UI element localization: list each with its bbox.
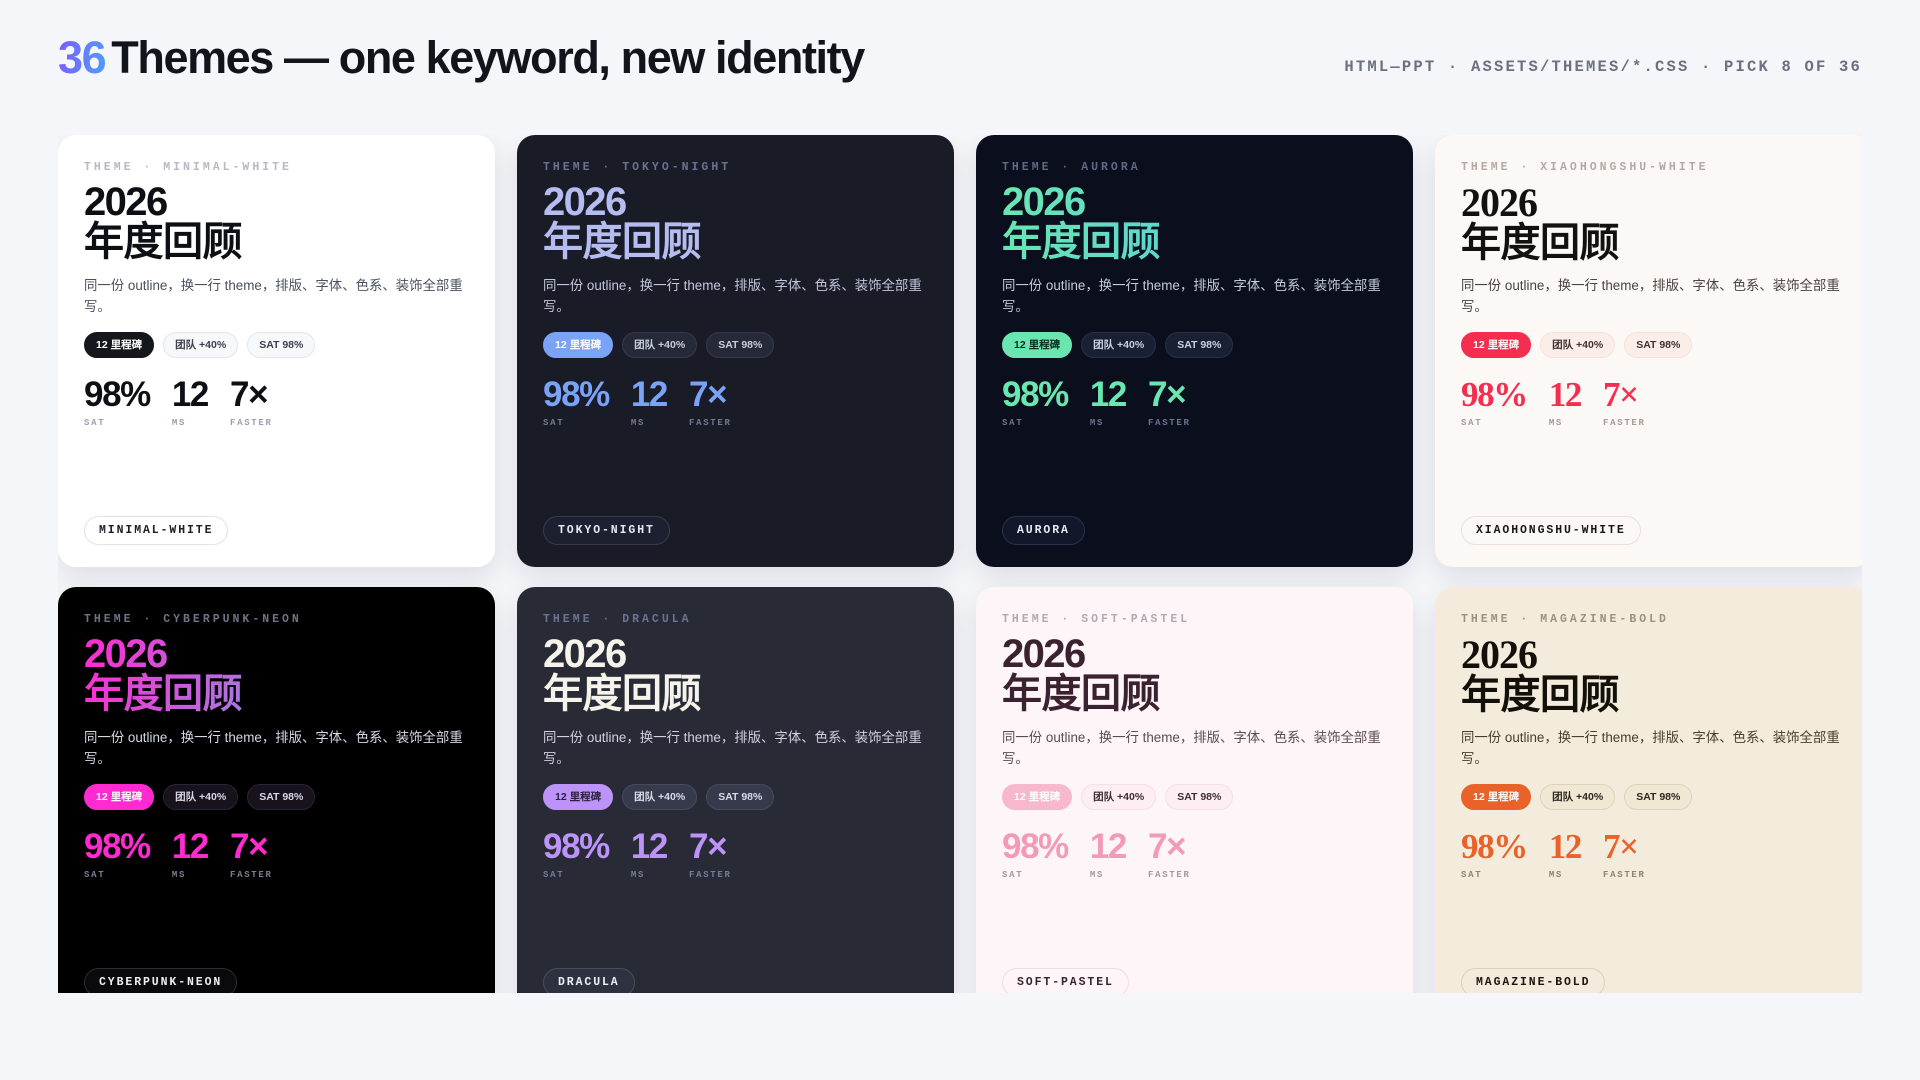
stat-item: 7×FASTER — [689, 377, 732, 428]
headline-line-1: 2026 — [1461, 180, 1537, 225]
pill-primary[interactable]: 12 里程碑 — [1002, 332, 1072, 359]
pill-secondary[interactable]: SAT 98% — [1165, 332, 1233, 359]
stat-label: FASTER — [689, 870, 732, 880]
stat-label: SAT — [1002, 870, 1068, 880]
pill-secondary[interactable]: SAT 98% — [1624, 784, 1692, 811]
pill-primary[interactable]: 12 里程碑 — [1002, 784, 1072, 811]
card-headline: 2026年度回顾 — [1002, 635, 1387, 714]
stat-label: SAT — [84, 418, 150, 428]
pill-secondary[interactable]: 团队 +40% — [1081, 332, 1156, 359]
headline-line-1: 2026 — [543, 632, 626, 676]
pill-secondary[interactable]: 团队 +40% — [1540, 332, 1615, 359]
theme-name-badge[interactable]: CYBERPUNK-NEON — [84, 968, 237, 993]
card-headline: 2026年度回顾 — [543, 635, 928, 714]
stat-label: SAT — [543, 870, 609, 880]
stat-label: SAT — [1002, 418, 1068, 428]
stat-item: 12MS — [172, 829, 208, 880]
stat-value: 7× — [1148, 829, 1191, 864]
pill-secondary[interactable]: SAT 98% — [247, 784, 315, 811]
card-headline: 2026年度回顾 — [543, 183, 928, 262]
theme-card[interactable]: THEME · CYBERPUNK-NEON2026年度回顾同一份 outlin… — [58, 587, 495, 993]
headline-line-2: 年度回顾 — [1002, 223, 1387, 263]
stat-value: 12 — [631, 377, 667, 412]
stat-value: 7× — [230, 377, 273, 412]
pill-secondary[interactable]: 团队 +40% — [1540, 784, 1615, 811]
card-headline: 2026年度回顾 — [1461, 635, 1846, 714]
card-stat-row: 98%SAT12MS7×FASTER — [84, 829, 469, 880]
card-footer: MAGAZINE-BOLD — [1461, 968, 1846, 993]
theme-card[interactable]: THEME · DRACULA2026年度回顾同一份 outline，换一行 t… — [517, 587, 954, 993]
page-title: 36Themes — one keyword, new identity — [58, 34, 864, 81]
stat-value: 7× — [1603, 377, 1646, 412]
card-pill-row: 12 里程碑团队 +40%SAT 98% — [1002, 332, 1387, 359]
stat-value: 7× — [1603, 829, 1646, 864]
card-headline: 2026年度回顾 — [1461, 183, 1846, 262]
card-stat-row: 98%SAT12MS7×FASTER — [1461, 829, 1846, 880]
stat-item: 12MS — [1090, 829, 1126, 880]
theme-card[interactable]: THEME · SOFT-PASTEL2026年度回顾同一份 outline，换… — [976, 587, 1413, 993]
stat-item: 12MS — [1549, 829, 1581, 880]
headline-line-2: 年度回顾 — [1461, 675, 1846, 715]
stat-label: FASTER — [1603, 418, 1646, 428]
card-body-text: 同一份 outline，换一行 theme，排版、字体、色系、装饰全部重写。 — [84, 276, 469, 317]
theme-name-badge[interactable]: SOFT-PASTEL — [1002, 968, 1129, 993]
pill-secondary[interactable]: SAT 98% — [706, 332, 774, 359]
card-eyebrow: THEME · MINIMAL-WHITE — [84, 161, 469, 174]
pill-secondary[interactable]: SAT 98% — [247, 332, 315, 359]
pill-secondary[interactable]: SAT 98% — [1165, 784, 1233, 811]
card-footer: SOFT-PASTEL — [1002, 968, 1387, 993]
stat-value: 12 — [172, 829, 208, 864]
headline-line-1: 2026 — [543, 180, 626, 224]
stat-label: FASTER — [1148, 870, 1191, 880]
pill-secondary[interactable]: 团队 +40% — [622, 784, 697, 811]
stat-value: 12 — [1090, 377, 1126, 412]
card-body-text: 同一份 outline，换一行 theme，排版、字体、色系、装饰全部重写。 — [543, 728, 928, 769]
card-stat-row: 98%SAT12MS7×FASTER — [1002, 829, 1387, 880]
pill-secondary[interactable]: 团队 +40% — [163, 784, 238, 811]
card-footer: XIAOHONGSHU-WHITE — [1461, 516, 1846, 567]
stat-item: 7×FASTER — [689, 829, 732, 880]
stat-value: 12 — [1549, 829, 1581, 864]
pill-secondary[interactable]: SAT 98% — [1624, 332, 1692, 359]
card-eyebrow: THEME · DRACULA — [543, 613, 928, 626]
headline-line-2: 年度回顾 — [543, 675, 928, 715]
stat-label: FASTER — [1148, 418, 1191, 428]
pill-secondary[interactable]: SAT 98% — [706, 784, 774, 811]
stat-label: MS — [172, 418, 208, 428]
stat-label: FASTER — [1603, 870, 1646, 880]
theme-name-badge[interactable]: AURORA — [1002, 516, 1085, 545]
headline-line-1: 2026 — [84, 180, 167, 224]
stat-item: 7×FASTER — [1603, 377, 1646, 428]
card-pill-row: 12 里程碑团队 +40%SAT 98% — [543, 784, 928, 811]
card-body-text: 同一份 outline，换一行 theme，排版、字体、色系、装饰全部重写。 — [1002, 728, 1387, 769]
headline-line-1: 2026 — [1461, 632, 1537, 677]
stat-label: FASTER — [230, 418, 273, 428]
stat-item: 12MS — [172, 377, 208, 428]
card-pill-row: 12 里程碑团队 +40%SAT 98% — [1461, 332, 1846, 359]
stat-label: SAT — [543, 418, 609, 428]
headline-line-1: 2026 — [84, 632, 167, 676]
pill-secondary[interactable]: 团队 +40% — [1081, 784, 1156, 811]
stat-label: SAT — [1461, 418, 1527, 428]
stat-item: 12MS — [631, 377, 667, 428]
card-headline: 2026年度回顾 — [84, 635, 469, 714]
theme-card[interactable]: THEME · XIAOHONGSHU-WHITE2026年度回顾同一份 out… — [1435, 135, 1862, 567]
stat-value: 98% — [543, 829, 609, 864]
stat-label: MS — [631, 418, 667, 428]
card-pill-row: 12 里程碑团队 +40%SAT 98% — [1461, 784, 1846, 811]
stat-item: 98%SAT — [1461, 829, 1527, 880]
stat-item: 98%SAT — [543, 377, 609, 428]
stat-item: 7×FASTER — [1603, 829, 1646, 880]
stat-value: 98% — [84, 829, 150, 864]
card-eyebrow: THEME · AURORA — [1002, 161, 1387, 174]
stat-value: 12 — [172, 377, 208, 412]
pill-primary[interactable]: 12 里程碑 — [543, 332, 613, 359]
card-pill-row: 12 里程碑团队 +40%SAT 98% — [1002, 784, 1387, 811]
stat-item: 98%SAT — [84, 829, 150, 880]
theme-card[interactable]: THEME · AURORA2026年度回顾同一份 outline，换一行 th… — [976, 135, 1413, 567]
headline-line-2: 年度回顾 — [84, 223, 469, 263]
stat-value: 98% — [1461, 829, 1527, 864]
stat-label: FASTER — [689, 418, 732, 428]
headline-line-2: 年度回顾 — [84, 675, 469, 715]
stat-label: MS — [172, 870, 208, 880]
stat-value: 98% — [84, 377, 150, 412]
card-stat-row: 98%SAT12MS7×FASTER — [1002, 377, 1387, 428]
pill-secondary[interactable]: 团队 +40% — [163, 332, 238, 359]
card-body-text: 同一份 outline，换一行 theme，排版、字体、色系、装饰全部重写。 — [1002, 276, 1387, 317]
stat-label: MS — [1090, 870, 1126, 880]
stat-item: 7×FASTER — [1148, 377, 1191, 428]
stat-item: 98%SAT — [84, 377, 150, 428]
headline-line-2: 年度回顾 — [1461, 223, 1846, 263]
stat-value: 98% — [543, 377, 609, 412]
stat-item: 98%SAT — [1461, 377, 1527, 428]
stat-label: MS — [1549, 418, 1581, 428]
stat-label: MS — [1090, 418, 1126, 428]
pill-primary[interactable]: 12 里程碑 — [1461, 332, 1531, 359]
card-pill-row: 12 里程碑团队 +40%SAT 98% — [84, 784, 469, 811]
card-stat-row: 98%SAT12MS7×FASTER — [84, 377, 469, 428]
card-pill-row: 12 里程碑团队 +40%SAT 98% — [84, 332, 469, 359]
headline-line-1: 2026 — [1002, 180, 1085, 224]
stat-label: SAT — [1461, 870, 1527, 880]
pill-secondary[interactable]: 团队 +40% — [622, 332, 697, 359]
pill-primary[interactable]: 12 里程碑 — [84, 784, 154, 811]
card-footer: AURORA — [1002, 516, 1387, 567]
card-stat-row: 98%SAT12MS7×FASTER — [1461, 377, 1846, 428]
headline-line-1: 2026 — [1002, 632, 1085, 676]
stat-value: 12 — [631, 829, 667, 864]
pill-primary[interactable]: 12 里程碑 — [84, 332, 154, 359]
stat-item: 7×FASTER — [1148, 829, 1191, 880]
card-footer: MINIMAL-WHITE — [84, 516, 469, 567]
stat-item: 12MS — [631, 829, 667, 880]
theme-name-badge[interactable]: DRACULA — [543, 968, 635, 993]
theme-card[interactable]: THEME · TOKYO-NIGHT2026年度回顾同一份 outline，换… — [517, 135, 954, 567]
page-title-text: Themes — one keyword, new identity — [111, 32, 864, 83]
theme-card-grid: THEME · MINIMAL-WHITE2026年度回顾同一份 outline… — [58, 135, 1862, 993]
card-footer: DRACULA — [543, 968, 928, 993]
theme-name-badge[interactable]: TOKYO-NIGHT — [543, 516, 670, 545]
card-body-text: 同一份 outline，换一行 theme，排版、字体、色系、装饰全部重写。 — [543, 276, 928, 317]
stat-value: 98% — [1002, 829, 1068, 864]
stat-label: SAT — [84, 870, 150, 880]
theme-name-badge[interactable]: MAGAZINE-BOLD — [1461, 968, 1605, 993]
theme-name-badge[interactable]: MINIMAL-WHITE — [84, 516, 228, 545]
stat-value: 12 — [1090, 829, 1126, 864]
stat-item: 7×FASTER — [230, 829, 273, 880]
pill-primary[interactable]: 12 里程碑 — [1461, 784, 1531, 811]
card-headline: 2026年度回顾 — [1002, 183, 1387, 262]
stat-item: 7×FASTER — [230, 377, 273, 428]
header-meta: HTML—PPT · ASSETS/THEMES/*.CSS · PICK 8 … — [1344, 58, 1862, 76]
card-stat-row: 98%SAT12MS7×FASTER — [543, 829, 928, 880]
stat-value: 7× — [1148, 377, 1191, 412]
card-body-text: 同一份 outline，换一行 theme，排版、字体、色系、装饰全部重写。 — [84, 728, 469, 769]
stat-item: 98%SAT — [1002, 829, 1068, 880]
card-body-text: 同一份 outline，换一行 theme，排版、字体、色系、装饰全部重写。 — [1461, 728, 1846, 769]
theme-gallery-page: 36Themes — one keyword, new identity HTM… — [0, 0, 1920, 1080]
stat-label: MS — [1549, 870, 1581, 880]
stat-value: 12 — [1549, 377, 1581, 412]
card-eyebrow: THEME · SOFT-PASTEL — [1002, 613, 1387, 626]
stat-label: MS — [631, 870, 667, 880]
card-headline: 2026年度回顾 — [84, 183, 469, 262]
card-pill-row: 12 里程碑团队 +40%SAT 98% — [543, 332, 928, 359]
stat-item: 98%SAT — [543, 829, 609, 880]
stat-item: 12MS — [1090, 377, 1126, 428]
stat-value: 7× — [689, 377, 732, 412]
stat-item: 98%SAT — [1002, 377, 1068, 428]
page-header: 36Themes — one keyword, new identity HTM… — [58, 34, 1862, 96]
card-eyebrow: THEME · XIAOHONGSHU-WHITE — [1461, 161, 1846, 174]
pill-primary[interactable]: 12 里程碑 — [543, 784, 613, 811]
theme-card[interactable]: THEME · MINIMAL-WHITE2026年度回顾同一份 outline… — [58, 135, 495, 567]
stat-item: 12MS — [1549, 377, 1581, 428]
card-eyebrow: THEME · MAGAZINE-BOLD — [1461, 613, 1846, 626]
card-footer: CYBERPUNK-NEON — [84, 968, 469, 993]
headline-line-2: 年度回顾 — [1002, 675, 1387, 715]
theme-count: 36 — [58, 32, 105, 83]
card-body-text: 同一份 outline，换一行 theme，排版、字体、色系、装饰全部重写。 — [1461, 276, 1846, 317]
card-stat-row: 98%SAT12MS7×FASTER — [543, 377, 928, 428]
stat-value: 98% — [1002, 377, 1068, 412]
card-eyebrow: THEME · TOKYO-NIGHT — [543, 161, 928, 174]
stat-value: 98% — [1461, 377, 1527, 412]
stat-label: FASTER — [230, 870, 273, 880]
stat-value: 7× — [689, 829, 732, 864]
headline-line-2: 年度回顾 — [543, 223, 928, 263]
card-eyebrow: THEME · CYBERPUNK-NEON — [84, 613, 469, 626]
theme-card[interactable]: THEME · MAGAZINE-BOLD2026年度回顾同一份 outline… — [1435, 587, 1862, 993]
card-footer: TOKYO-NIGHT — [543, 516, 928, 567]
stat-value: 7× — [230, 829, 273, 864]
theme-name-badge[interactable]: XIAOHONGSHU-WHITE — [1461, 516, 1641, 545]
